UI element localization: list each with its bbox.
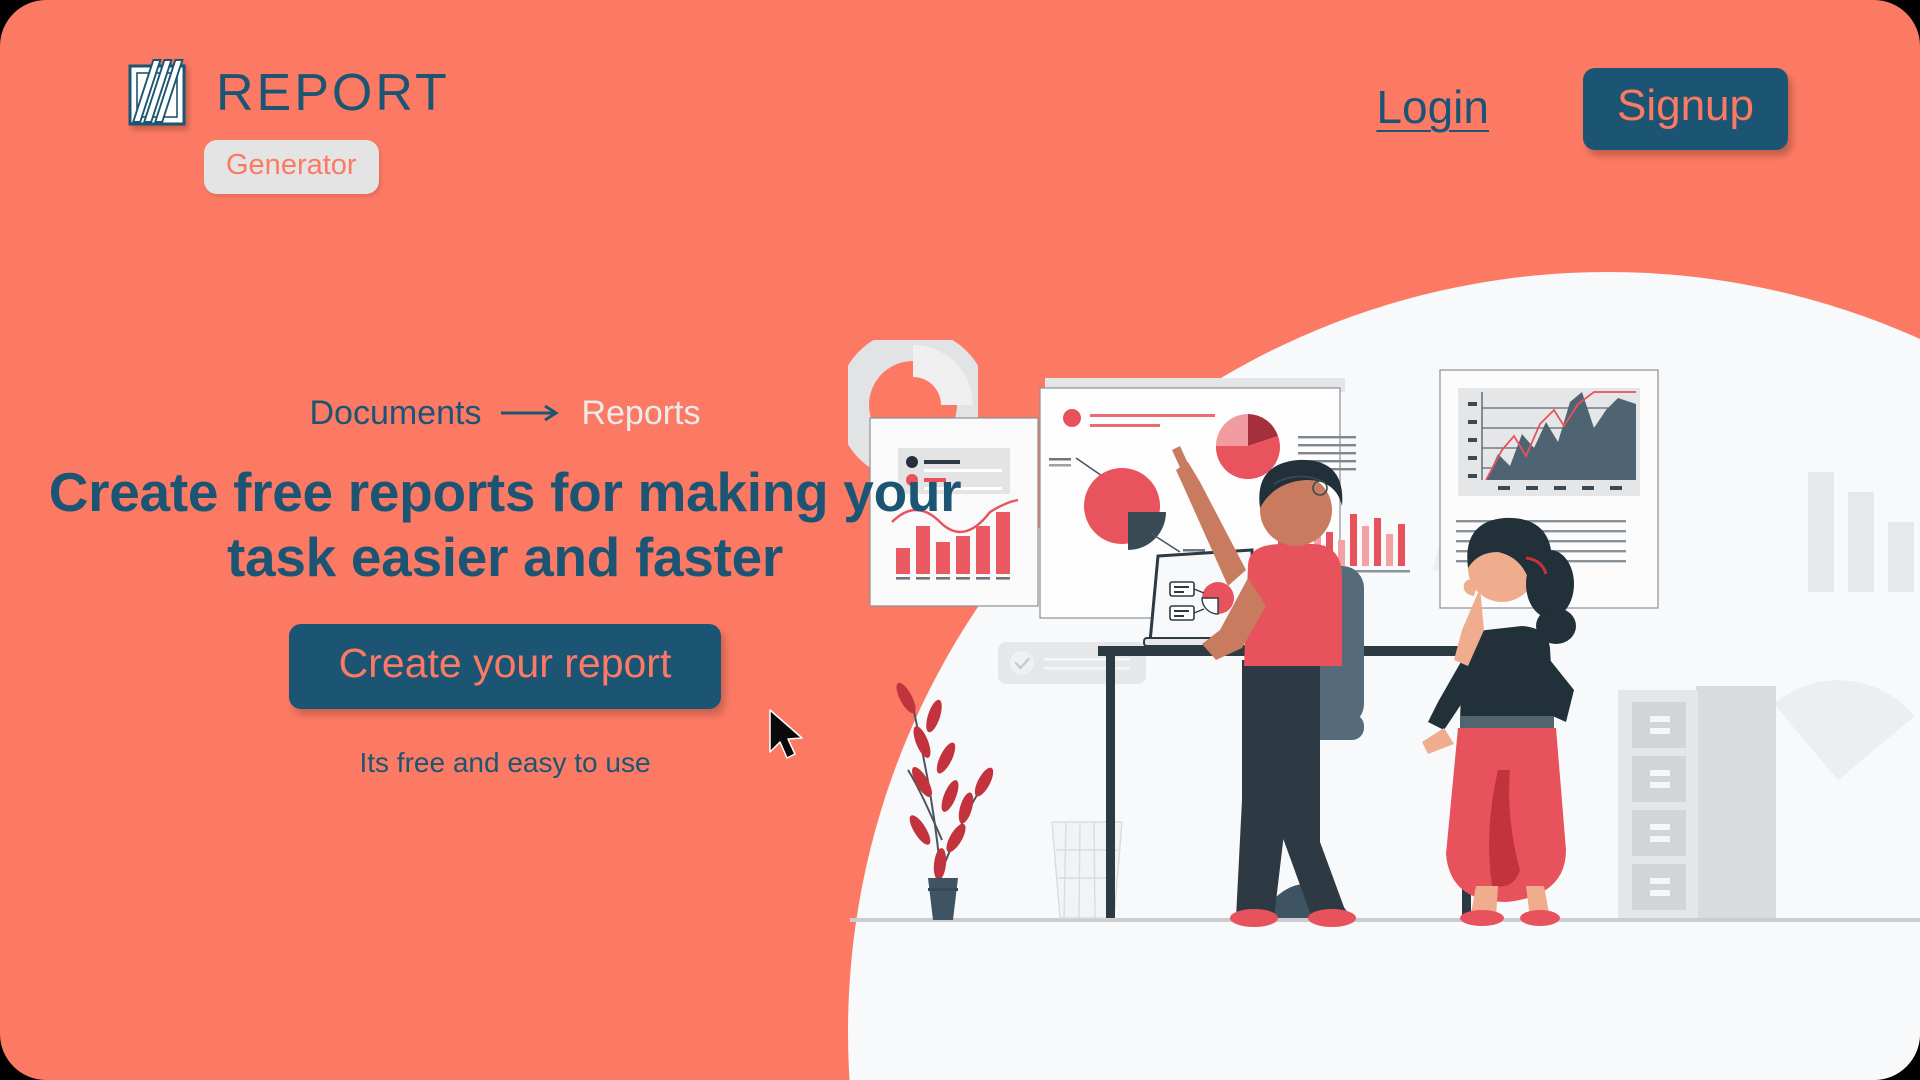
login-link[interactable]: Login [1376,84,1489,134]
site-header: REPORT Generator Login Signup [0,0,1920,200]
brand-wordmark: REPORT [216,67,450,119]
filing-cabinet [1618,686,1776,918]
office-analytics-illustration [850,330,1920,980]
hero-eyebrow: Documents Reports [0,396,1010,430]
main-nav: Login Signup [1376,68,1788,150]
report-document-logo-icon [126,58,196,128]
brand-badge: Generator [204,140,379,194]
create-report-button[interactable]: Create your report [289,624,722,709]
hero-subtext: Its free and easy to use [0,749,1010,777]
eyebrow-to-label: Reports [581,396,700,430]
brand[interactable]: REPORT Generator [126,58,450,194]
eyebrow-from-label: Documents [309,396,481,430]
mouse-pointer-cursor-icon [766,708,810,771]
page-title: Create free reports for making your task… [0,460,1010,590]
signup-button[interactable]: Signup [1583,68,1788,150]
landing-page: REPORT Generator Login Signup Documents … [0,0,1920,1080]
hero-section: Documents Reports Create free reports fo… [0,396,1010,777]
long-right-arrow-icon [499,403,563,423]
